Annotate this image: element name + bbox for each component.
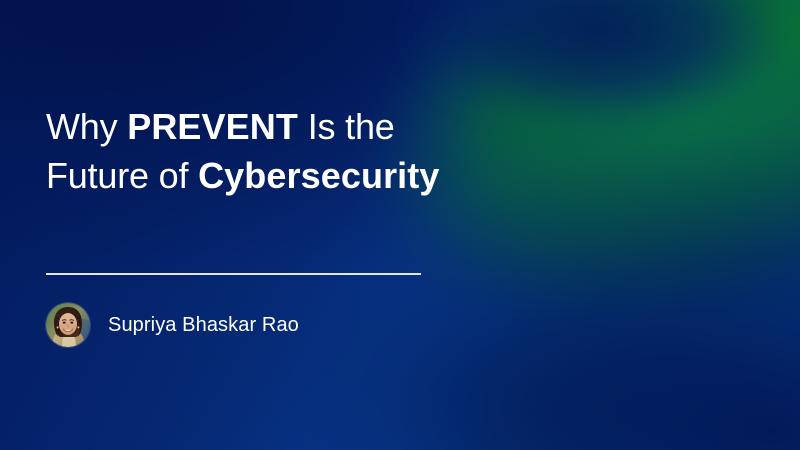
slide-content: Why PREVENT Is the Future of Cybersecuri…	[46, 0, 606, 450]
page-title: Why PREVENT Is the Future of Cybersecuri…	[46, 102, 440, 200]
title-slide: Why PREVENT Is the Future of Cybersecuri…	[0, 0, 800, 450]
byline: Supriya Bhaskar Rao	[46, 303, 299, 347]
title-segment-plain: Future of	[46, 155, 198, 196]
title-segment-plain: Why	[46, 106, 127, 147]
divider-rule	[46, 273, 421, 275]
title-line-1: Why PREVENT Is the	[46, 102, 440, 151]
avatar	[46, 303, 90, 347]
title-segment-emphasis: Cybersecurity	[198, 155, 439, 196]
title-segment-plain: Is the	[298, 106, 395, 147]
avatar-portrait-icon	[46, 303, 90, 347]
title-segment-emphasis: PREVENT	[127, 106, 298, 147]
title-line-2: Future of Cybersecurity	[46, 151, 440, 200]
author-name: Supriya Bhaskar Rao	[108, 315, 299, 335]
